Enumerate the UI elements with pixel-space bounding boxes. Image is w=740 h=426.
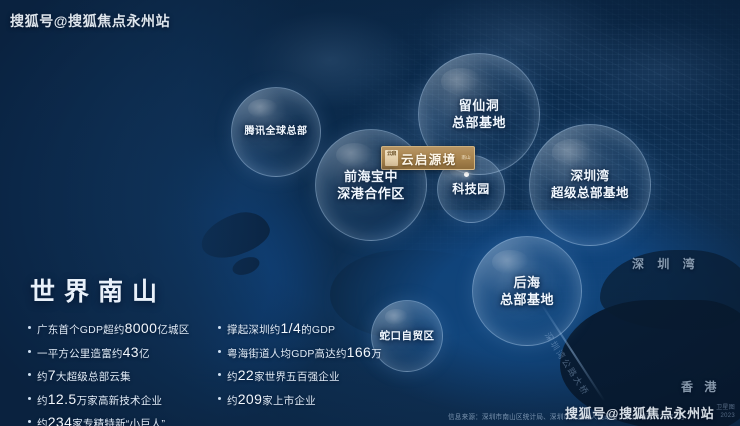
bubble-shenzhen-bay-super-hq-base[interactable]: 深圳湾超级总部基地 <box>529 124 651 246</box>
bullet-icon <box>218 373 221 376</box>
infographic-map: 深圳湾公路大桥 深 圳 湾 香 港 腾讯全球总部 留仙洞总部基地 前海宝中深港合… <box>0 0 740 426</box>
stat-number: 8000 <box>125 320 158 336</box>
stat-text: 粤海街道人均GDP高达约166万 <box>227 345 382 360</box>
stat-list-item: 约7大超级总部云集 <box>28 368 206 383</box>
stat-text: 撑起深圳约1/4的GDP <box>227 321 335 336</box>
stat-number: 166 <box>347 344 372 360</box>
stat-number: 209 <box>238 391 263 407</box>
stats-column-left: 广东首个GDP超约8000亿城区一平方公里造富约43亿约7大超级总部云集约12.… <box>28 321 206 426</box>
stat-number: 12.5 <box>48 391 77 407</box>
stat-number: 43 <box>123 344 139 360</box>
bullet-icon <box>28 373 31 376</box>
bubble-label: 科技园 <box>452 181 490 197</box>
stat-number: 7 <box>48 367 56 383</box>
bullet-icon <box>218 397 221 400</box>
stat-text: 约209家上市企业 <box>227 392 316 407</box>
stat-text: 约234家专精特新“小巨人” <box>37 415 165 426</box>
bullet-icon <box>28 350 31 353</box>
stat-number: 234 <box>48 414 73 426</box>
stat-list-item: 约234家专精特新“小巨人” <box>28 415 206 426</box>
stats-column-right: 撑起深圳约1/4的GDP粤海街道人均GDP高达约166万约22家世界五百强企业约… <box>218 321 384 426</box>
stat-text: 广东首个GDP超约8000亿城区 <box>37 321 189 336</box>
stat-number: 1/4 <box>281 320 302 336</box>
stat-list-item: 广东首个GDP超约8000亿城区 <box>28 321 206 336</box>
watermark-top: 搜狐号@搜狐焦点永州站 <box>10 11 170 31</box>
bullet-icon <box>218 350 221 353</box>
stat-list-item: 约209家上市企业 <box>218 392 384 407</box>
info-panel: 世界南山 广东首个GDP超约8000亿城区一平方公里造富约43亿约7大超级总部云… <box>28 272 346 426</box>
corner-mark: 卫星图2023 <box>716 404 735 420</box>
stat-list-item: 粤海街道人均GDP高达约166万 <box>218 345 384 360</box>
bullet-icon <box>28 326 31 329</box>
bubble-label: 蛇口自贸区 <box>380 329 435 343</box>
stat-list-item: 约12.5万家高新技术企业 <box>28 392 206 407</box>
bubble-label: 留仙洞总部基地 <box>452 97 506 132</box>
stat-list-item: 一平方公里造富约43亿 <box>28 345 206 360</box>
bubble-tencent-global-hq[interactable]: 腾讯全球总部 <box>231 87 321 177</box>
stat-text: 约22家世界五百强企业 <box>227 368 340 383</box>
bubble-label: 腾讯全球总部 <box>245 125 308 138</box>
map-label-shenzhen-bay: 深 圳 湾 <box>632 255 700 272</box>
bubble-houhai-hq-base[interactable]: 后海总部基地 <box>472 236 582 346</box>
bubble-label: 后海总部基地 <box>500 274 554 309</box>
watermark-bottom: 搜狐号@搜狐焦点永州站 <box>565 403 714 422</box>
stat-list-item: 约22家世界五百强企业 <box>218 368 384 383</box>
bullet-icon <box>28 397 31 400</box>
stat-text: 约12.5万家高新技术企业 <box>37 392 162 407</box>
stat-number: 22 <box>238 367 254 383</box>
stat-list-item: 撑起深圳约1/4的GDP <box>218 321 384 336</box>
stats-columns: 广东首个GDP超约8000亿城区一平方公里造富约43亿约7大超级总部云集约12.… <box>28 321 346 426</box>
stat-text: 一平方公里造富约43亿 <box>37 345 150 360</box>
map-label-hongkong: 香 港 <box>681 378 720 395</box>
project-badge[interactable]: 云启 云启源境 南山 <box>381 146 475 170</box>
badge-logo-mark: 云启 <box>385 150 398 166</box>
badge-sub-text: 南山 <box>461 155 471 160</box>
bullet-icon <box>28 420 31 423</box>
badge-project-name: 云启源境 <box>401 149 458 168</box>
panel-title: 世界南山 <box>30 272 346 308</box>
stat-text: 约7大超级总部云集 <box>37 368 131 383</box>
bullet-icon <box>218 326 221 329</box>
bubble-label: 前海宝中深港合作区 <box>337 168 405 203</box>
bubble-label: 深圳湾超级总部基地 <box>551 168 629 202</box>
map-dot-marker <box>464 172 469 177</box>
